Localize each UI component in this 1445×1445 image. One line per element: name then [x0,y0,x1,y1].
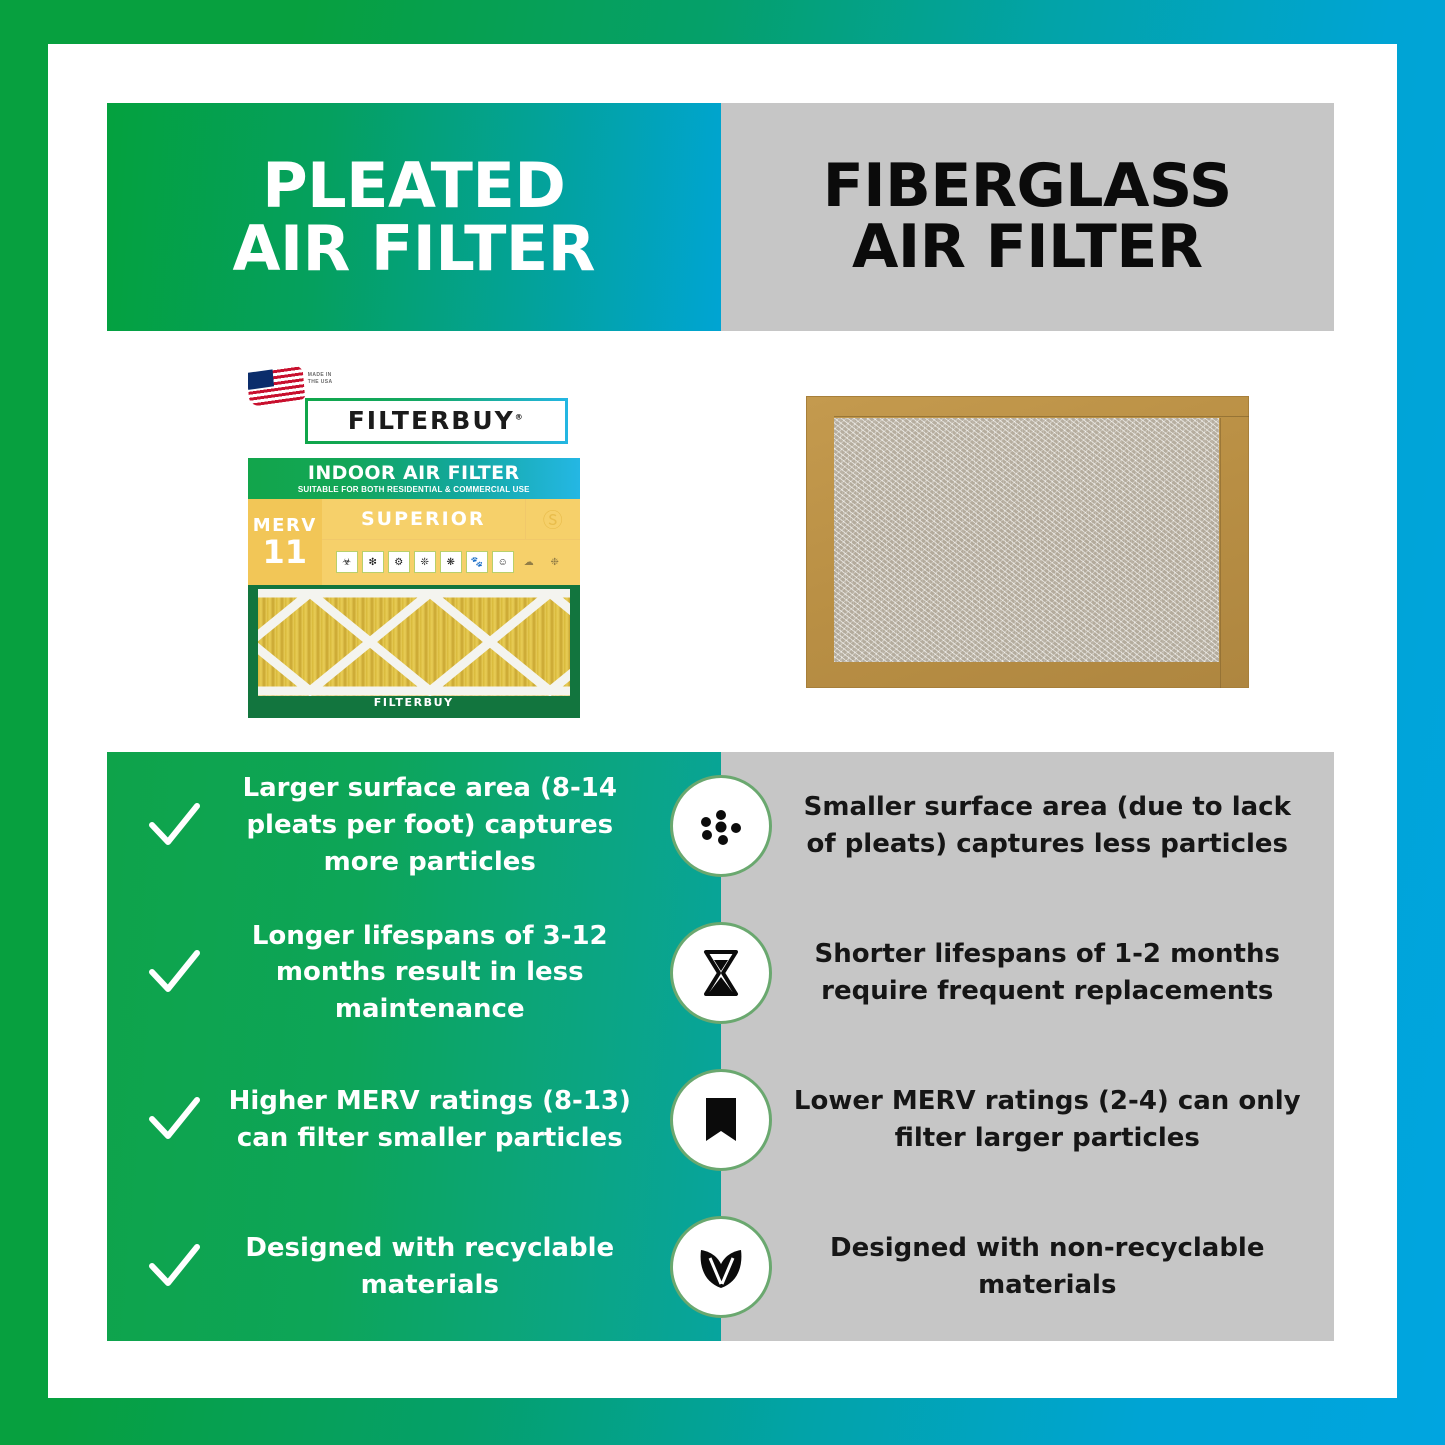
capability-icons-row: ☣ ❇ ⚙ ❊ ❋ 🐾 ☺ ☁ ❉ [322,540,580,585]
tier-label: SUPERIOR [322,508,525,530]
box-gold-section: MERV 11 SUPERIOR Ⓢ ☣ ❇ ⚙ [248,499,580,585]
product-images-row: MADE INTHE USA FILTERBUY® INDOOR AIR FIL… [107,331,1334,752]
virus-icon: ❉ [544,551,566,573]
box-pleat-artwork: FILTERBUY [248,585,580,718]
comparison-row: Longer lifespans of 3-12 months result i… [107,899,1334,1046]
checkmark-icon [143,795,205,857]
comparison-row: Larger surface area (8-14 pleats per foo… [107,752,1334,899]
row-right-text: Smaller surface area (due to lack of ple… [791,789,1305,863]
checkmark-icon [143,1089,205,1151]
row-right-text: Shorter lifespans of 1-2 months require … [791,936,1305,1010]
mites-icon: ❇ [362,551,384,573]
row-left-cell: Designed with recyclable materials [107,1230,721,1304]
comparison-row: Designed with recyclable materials Desig… [107,1194,1334,1341]
filterbuy-box-image: MADE INTHE USA FILTERBUY® INDOOR AIR FIL… [248,366,580,718]
smoke-icon: ☺ [492,551,514,573]
merv-value: 11 [262,536,307,568]
comparison-infographic: PLEATED AIR FILTER FIBERGLASS AIR FILTER… [107,103,1334,1341]
comparison-panels: Larger surface area (8-14 pleats per foo… [107,752,1334,1341]
row-left-cell: Higher MERV ratings (8-13) can filter sm… [107,1083,721,1157]
header-fiberglass: FIBERGLASS AIR FILTER [721,103,1335,331]
support-mesh [258,589,570,696]
header-pleated-line1: PLEATED [262,149,565,222]
header-fiberglass-line2: AIR FILTER [852,212,1203,282]
row-left-text: Larger surface area (8-14 pleats per foo… [205,770,655,881]
box-footer-brand: FILTERBUY [248,696,580,718]
row-left-text: Higher MERV ratings (8-13) can filter sm… [205,1083,655,1157]
bacteria-icon: ⚙ [388,551,410,573]
row-left-text: Longer lifespans of 3-12 months result i… [205,918,655,1029]
leaf-eco-icon [670,1216,772,1318]
header-pleated-line2: AIR FILTER [233,212,595,285]
row-right-cell: Lower MERV ratings (2-4) can only filter… [721,1083,1335,1157]
headers-row: PLEATED AIR FILTER FIBERGLASS AIR FILTER [107,103,1334,331]
us-flag-icon [248,366,305,407]
trademark-symbol: ® [515,413,525,422]
ul-listed-icon: Ⓢ [525,499,580,539]
fiberglass-media [834,418,1219,662]
checkmark-icon [143,1236,205,1298]
mold-icon: ❊ [414,551,436,573]
checkmark-icon [143,942,205,1004]
tier-row: SUPERIOR Ⓢ [322,499,580,540]
box-band-line2: SUITABLE FOR BOTH RESIDENTIAL & COMMERCI… [248,485,580,494]
row-left-cell: Larger surface area (8-14 pleats per foo… [107,770,721,881]
header-pleated-title: PLEATED AIR FILTER [233,154,595,280]
row-right-cell: Shorter lifespans of 1-2 months require … [721,936,1335,1010]
merv-badge: MERV 11 [248,499,322,585]
hourglass-icon [670,922,772,1024]
fiberglass-filter-image [806,396,1249,688]
row-right-text: Designed with non-recyclable materials [791,1230,1305,1304]
comparison-rows: Larger surface area (8-14 pleats per foo… [107,752,1334,1341]
made-in-usa-label: MADE INTHE USA [308,372,333,388]
frame-seam-top [834,416,1249,417]
row-left-text: Designed with recyclable materials [205,1230,655,1304]
frame-seam-right [1220,418,1221,688]
pollen-icon: ❋ [440,551,462,573]
poster-frame: PLEATED AIR FILTER FIBERGLASS AIR FILTER… [0,0,1445,1445]
box-band-line1: INDOOR AIR FILTER [248,462,580,484]
header-pleated: PLEATED AIR FILTER [107,103,721,331]
fiberglass-product-cell [721,331,1335,752]
row-right-text: Lower MERV ratings (2-4) can only filter… [791,1083,1305,1157]
row-left-cell: Longer lifespans of 3-12 months result i… [107,918,721,1029]
box-color-band: INDOOR AIR FILTER SUITABLE FOR BOTH RESI… [248,458,580,499]
comparison-row: Higher MERV ratings (8-13) can filter sm… [107,1047,1334,1194]
dust-icon: ☣ [336,551,358,573]
bookmark-rating-icon [670,1069,772,1171]
header-fiberglass-line1: FIBERGLASS [823,151,1232,221]
header-fiberglass-title: FIBERGLASS AIR FILTER [823,156,1232,278]
smog-icon: ☁ [518,551,540,573]
box-gold-right: SUPERIOR Ⓢ ☣ ❇ ⚙ ❊ ❋ 🐾 ☺ [322,499,580,585]
row-right-cell: Smaller surface area (due to lack of ple… [721,789,1335,863]
pleated-product-cell: MADE INTHE USA FILTERBUY® INDOOR AIR FIL… [107,331,721,752]
box-top-section: MADE INTHE USA FILTERBUY® [248,366,580,458]
particles-icon [670,775,772,877]
pet-dander-icon: 🐾 [466,551,488,573]
row-right-cell: Designed with non-recyclable materials [721,1230,1335,1304]
box-brand-name: FILTERBUY® [348,406,525,435]
box-brand-frame: FILTERBUY® [305,398,568,444]
